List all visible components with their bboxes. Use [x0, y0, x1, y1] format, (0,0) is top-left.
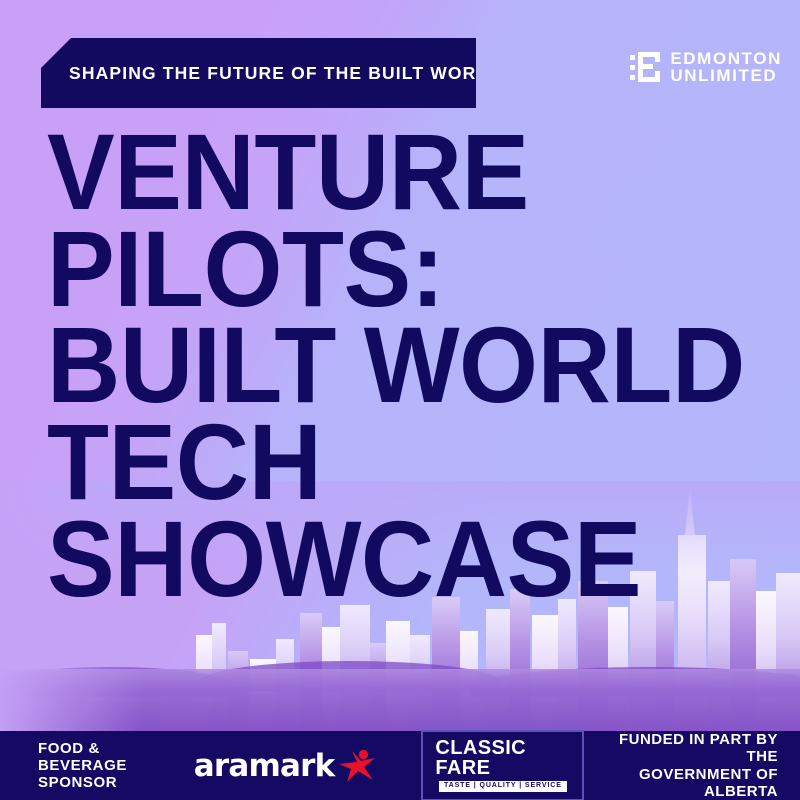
footer-bar: FOOD & BEVERAGE SPONSOR aramark CLASSIC … [0, 731, 800, 800]
headline-line-3: BUILT WORLD [47, 317, 743, 414]
food-beverage-sponsor-label: FOOD & BEVERAGE SPONSOR [38, 740, 188, 791]
eyebrow-text: SHAPING THE FUTURE OF THE BUILT WORLD [41, 63, 502, 84]
headline-block: VENTURE PILOTS: BUILT WORLD TECH SHOWCAS… [47, 124, 787, 607]
logo-line-edmonton: EDMONTON [670, 50, 782, 67]
headline-line-2: PILOTS: [47, 221, 743, 318]
edmonton-unlimited-wordmark: EDMONTON UNLIMITED [670, 50, 782, 85]
eyebrow-banner: SHAPING THE FUTURE OF THE BUILT WORLD [41, 38, 476, 108]
logo-line-unlimited: UNLIMITED [670, 67, 782, 84]
sponsor-label-line-1: FOOD & BEVERAGE [38, 740, 188, 774]
funding-credit: FUNDED IN PART BY THE GOVERNMENT OF ALBE… [584, 731, 778, 800]
funding-line-1: FUNDED IN PART BY THE [584, 731, 778, 766]
poster-canvas: SHAPING THE FUTURE OF THE BUILT WORLD ED… [0, 0, 800, 800]
sponsor-label-line-2: SPONSOR [38, 774, 188, 791]
edmonton-unlimited-mark-icon [630, 52, 660, 82]
edmonton-unlimited-logo: EDMONTON UNLIMITED [630, 50, 782, 85]
funding-line-2: GOVERNMENT OF ALBERTA [584, 766, 778, 800]
aramark-wordmark: aramark [194, 748, 335, 784]
classic-fare-tagline: TASTE | QUALITY | SERVICE [439, 781, 567, 792]
classic-fare-name: CLASSIC FARE [435, 738, 570, 778]
headline-line-4: TECH [47, 414, 743, 511]
headline-line-1: VENTURE [47, 124, 743, 221]
headline-line-5: SHOWCASE [47, 511, 743, 608]
aramark-logo: aramark [194, 748, 378, 784]
aramark-star-icon [337, 749, 377, 783]
classic-fare-logo: CLASSIC FARE TASTE | QUALITY | SERVICE [421, 730, 584, 800]
